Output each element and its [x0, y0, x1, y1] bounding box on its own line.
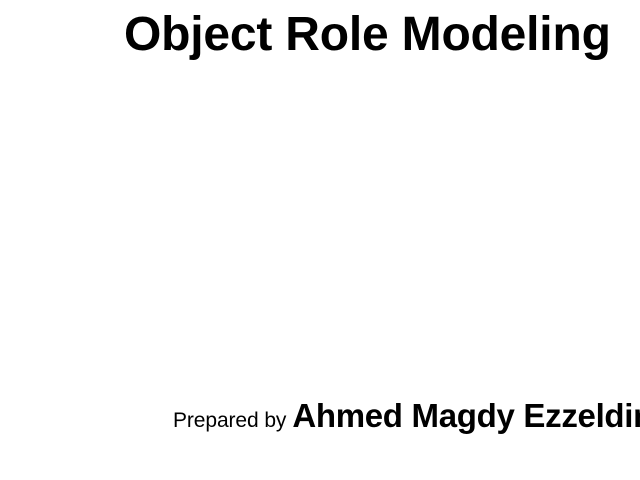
title-block: Object Role Modeling	[0, 0, 640, 80]
byline: Prepared byAhmed Magdy Ezzeldin	[173, 399, 640, 432]
byline-author-name: Ahmed Magdy Ezzeldin	[292, 397, 640, 434]
title-slide: Object Role Modeling Prepared byAhmed Ma…	[0, 0, 640, 480]
slide-body-content	[0, 80, 640, 386]
byline-prefix-label: Prepared by	[173, 409, 286, 432]
byline-block: Prepared byAhmed Magdy Ezzeldin	[0, 386, 640, 432]
page-title: Object Role Modeling	[124, 11, 611, 59]
